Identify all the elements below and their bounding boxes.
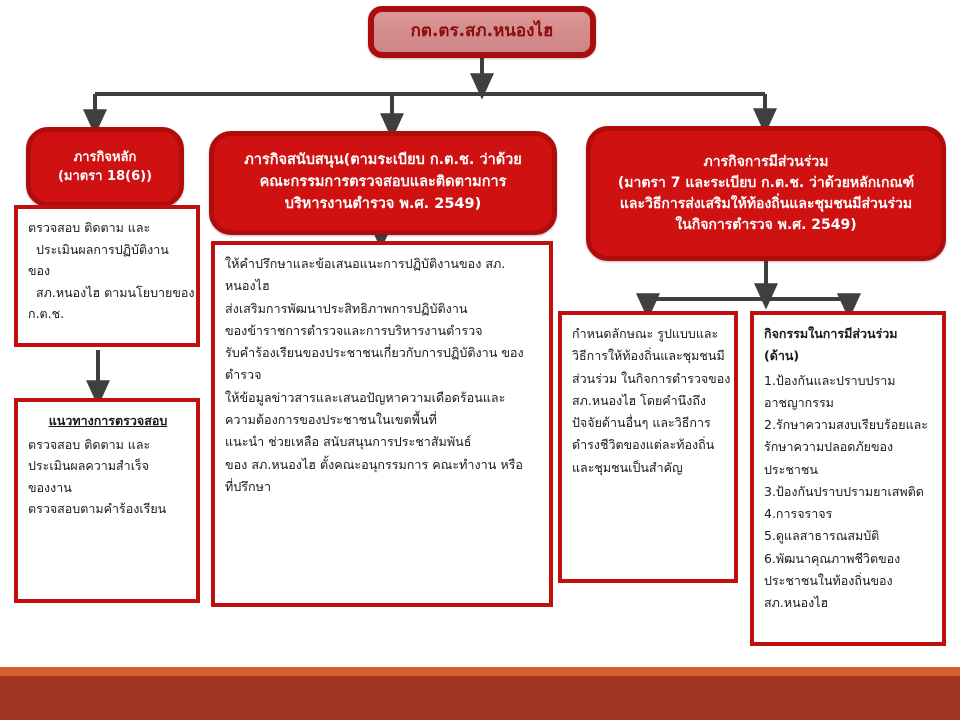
detail-line: และชุมชนเป็นสำคัญ [572, 457, 726, 479]
detail-line: ประเมินผลการปฏิบัติงาน [28, 239, 188, 261]
org-chart-canvas: กต.ตร.สภ.หนองไฮ ภารกิจหลัก (มาตรา 18(6))… [0, 0, 960, 720]
detail-line: 2.รักษาความสงบเรียบร้อยและ [764, 414, 934, 436]
detail-box-heading: แนวทางการตรวจสอบ [28, 410, 188, 432]
detail-line: สภ.หนองไฮ [764, 592, 934, 614]
detail-line: ประชาชนในท้องถิ่นของ [764, 570, 934, 592]
detail-line: 5.ดูแลสาธารณสมบัติ [764, 525, 934, 547]
detail-line: ส่งเสริมการพัฒนาประสิทธิภาพการปฏิบัติงาน [225, 298, 541, 320]
detail-line: ประชาชน [764, 459, 934, 481]
root-title-line: กต.ตร.สภ.หนองไฮ [411, 19, 554, 45]
branch-header-line: ภารกิจการมีส่วนร่วม [704, 152, 829, 173]
detail-line: ประเมินผลความสำเร็จ [28, 455, 188, 477]
branch-header-line: และวิธีการส่งเสริมให้ท้องถิ่นและชุมชนมีส… [620, 194, 912, 215]
detail-line: แนะนำ ช่วยเหลือ สนับสนุนการประชาสัมพันธ์ [225, 431, 541, 453]
detail-box-heading: กิจกรรมในการมีส่วนร่วม (ด้าน) [764, 323, 934, 368]
detail-line: สภ.หนองไฮ ตามนโยบายของ [28, 282, 188, 304]
detail-line: ตรวจสอบ ติดตาม และ [28, 434, 188, 456]
branch-header-line: (มาตรา 7 และระเบียบ ก.ต.ช. ว่าด้วยหลักเก… [618, 173, 914, 194]
detail-line: สภ.หนองไฮ โดยคำนึงถึง [572, 390, 726, 412]
detail-line: ตำรวจ [225, 364, 541, 386]
detail-box-main-duties[interactable]: ตรวจสอบ ติดตาม และ ประเมินผลการปฏิบัติงา… [14, 205, 200, 347]
detail-line: ของงาน [28, 477, 188, 499]
branch-header-line: ภารกิจสนับสนุน(ตามระเบียบ ก.ต.ช. ว่าด้วย [244, 150, 522, 172]
detail-line: ให้ข้อมูลข่าวสารและเสนอปัญหาความเดือดร้อ… [225, 387, 541, 409]
detail-line: 1.ป้องกันและปราบปราม [764, 370, 934, 392]
detail-box-participation-methods[interactable]: กำหนดลักษณะ รูปแบบและ วิธีการให้ท้องถิ่น… [558, 311, 738, 583]
detail-line: หนองไฮ [225, 275, 541, 297]
footer-accent-stripe [0, 667, 960, 676]
branch-header-support-mission[interactable]: ภารกิจสนับสนุน(ตามระเบียบ ก.ต.ช. ว่าด้วย… [209, 131, 557, 235]
detail-line: ตรวจสอบตามคำร้องเรียน [28, 498, 188, 520]
footer-band [0, 676, 960, 720]
branch-header-line: (มาตรา 18(6)) [58, 167, 152, 187]
detail-line: ของ [28, 260, 188, 282]
detail-line: 6.พัฒนาคุณภาพชีวิตของ [764, 548, 934, 570]
detail-line: ปัจจัยด้านอื่นๆ และวิธีการ [572, 412, 726, 434]
detail-line: อาชญากรรม [764, 392, 934, 414]
detail-line: ดำรงชีวิตของแต่ละท้องถิ่น [572, 434, 726, 456]
detail-line: วิธีการให้ท้องถิ่นและชุมชนมี [572, 345, 726, 367]
branch-header-line: ในกิจการตำรวจ พ.ศ. 2549) [675, 215, 856, 236]
detail-line: ความต้องการของประชาชนในเขตพื้นที่ [225, 409, 541, 431]
detail-box-audit-guidelines[interactable]: แนวทางการตรวจสอบ ตรวจสอบ ติดตาม และ ประเ… [14, 398, 200, 603]
branch-header-line: ภารกิจหลัก [74, 148, 137, 168]
detail-line: ของข้าราชการตำรวจและการบริหารงานตำรวจ [225, 320, 541, 342]
detail-line: กำหนดลักษณะ รูปแบบและ [572, 323, 726, 345]
detail-line: 3.ป้องกันปราบปรามยาเสพติด [764, 481, 934, 503]
root-title-box[interactable]: กต.ตร.สภ.หนองไฮ [368, 6, 596, 58]
detail-line: ตรวจสอบ ติดตาม และ [28, 217, 188, 239]
detail-line: รับคำร้องเรียนของประชาชนเกี่ยวกับการปฏิบ… [225, 342, 541, 364]
branch-header-participation-mission[interactable]: ภารกิจการมีส่วนร่วม (มาตรา 7 และระเบียบ … [586, 126, 946, 261]
branch-header-main-mission[interactable]: ภารกิจหลัก (มาตรา 18(6)) [26, 127, 184, 207]
detail-line: รักษาความปลอดภัยของ [764, 436, 934, 458]
detail-line: ของ สภ.หนองไฮ ตั้งคณะอนุกรรมการ คณะทำงาน… [225, 454, 541, 476]
detail-box-participation-activities[interactable]: กิจกรรมในการมีส่วนร่วม (ด้าน) 1.ป้องกันแ… [750, 311, 946, 646]
detail-line: ส่วนร่วม ในกิจการตำรวจของ [572, 368, 726, 390]
detail-line: ให้คำปรึกษาและข้อเสนอแนะการปฏิบัติงานของ… [225, 253, 541, 275]
detail-line: 4.การจราจร [764, 503, 934, 525]
detail-line: ก.ต.ช. [28, 303, 188, 325]
branch-header-line: คณะกรรมการตรวจสอบและติดตามการ [260, 172, 507, 194]
branch-header-line: บริหารงานตำรวจ พ.ศ. 2549) [285, 194, 481, 216]
detail-box-support-duties[interactable]: ให้คำปรึกษาและข้อเสนอแนะการปฏิบัติงานของ… [211, 241, 553, 607]
detail-line: ที่ปรึกษา [225, 476, 541, 498]
